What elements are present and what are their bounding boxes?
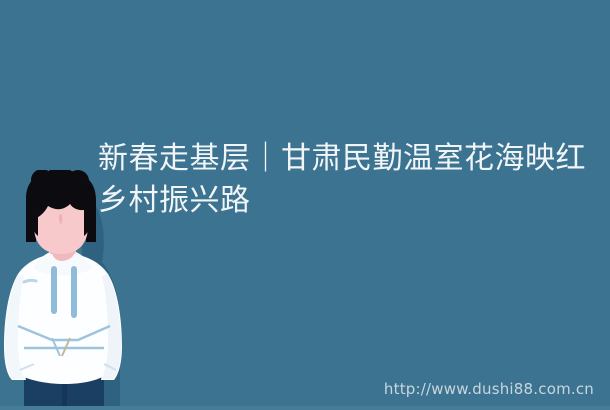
drawstring-right-shape bbox=[71, 266, 77, 318]
article-thumbnail-card: 新春走基层｜甘肃民勤温室花海映红乡村振兴路 http://www.dushi88… bbox=[0, 0, 610, 410]
drawstring-left-shape bbox=[51, 266, 57, 314]
watermark-url: http://www.dushi88.com.cn bbox=[384, 380, 594, 398]
hoodie bbox=[4, 252, 122, 384]
headline-title: 新春走基层｜甘肃民勤温室花海映红乡村振兴路 bbox=[98, 138, 598, 222]
bottom-edge-strip bbox=[0, 406, 610, 410]
